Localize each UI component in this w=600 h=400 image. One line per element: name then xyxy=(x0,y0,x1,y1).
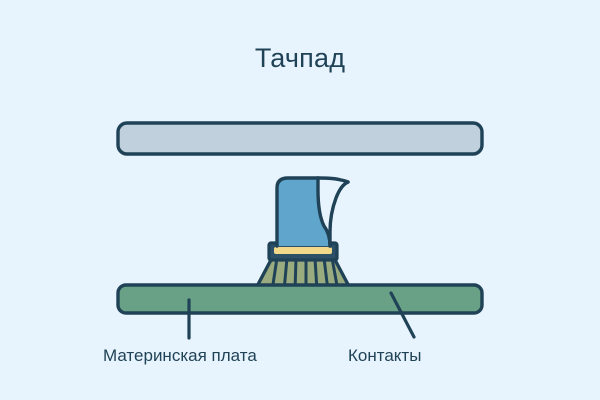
diagram-canvas: Тачпад Материнская плата Контакты xyxy=(0,0,600,400)
contact-bar-gold xyxy=(274,247,332,254)
label-contacts: Контакты xyxy=(348,345,421,366)
label-motherboard: Материнская плата xyxy=(103,345,257,366)
page-title: Тачпад xyxy=(0,41,600,75)
touchpad-plate xyxy=(118,123,482,154)
motherboard-bar xyxy=(118,285,482,313)
